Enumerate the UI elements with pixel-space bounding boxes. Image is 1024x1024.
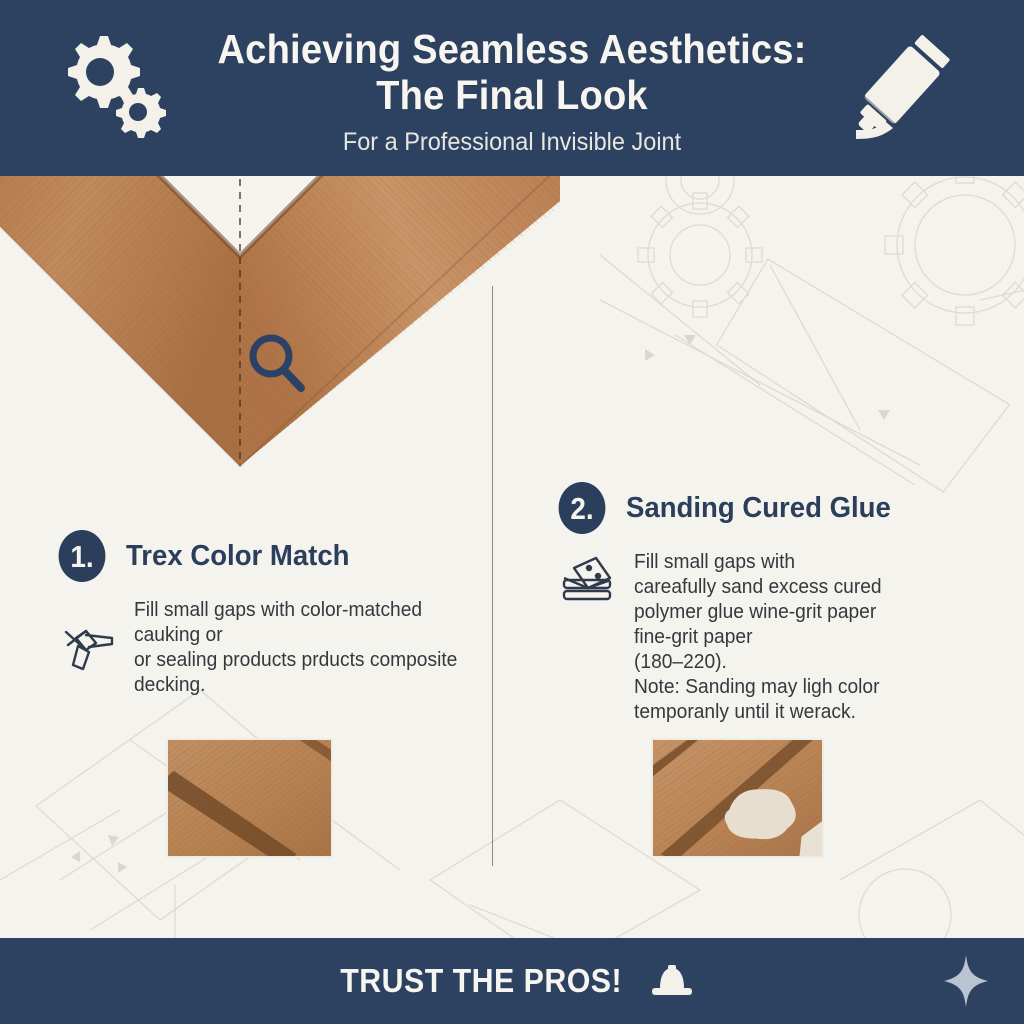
glue-tube-icon <box>828 26 968 151</box>
wood-swatch-seam <box>166 738 333 858</box>
header-banner: Achieving Seamless Aesthetics: The Final… <box>0 0 1024 176</box>
wood-corner-joint-graphic <box>0 176 560 476</box>
wood-swatch-glue-stain <box>651 738 824 858</box>
step-1-body-row: Fill small gaps with color-matched cauki… <box>56 598 476 698</box>
footer-banner: TRUST THE PROS! <box>0 938 1024 1024</box>
step-1-heading: 1. Trex Color Match <box>56 530 476 582</box>
column-divider <box>492 286 493 866</box>
step-1-title: Trex Color Match <box>126 540 350 572</box>
step-2-number-badge: 2. <box>559 482 606 534</box>
hard-hat-icon <box>648 962 696 1000</box>
sparkle-icon <box>944 955 988 1007</box>
step-2-column: 2. Sanding Cured Glue Fill small gaps wi… <box>556 482 986 725</box>
footer-content: TRUST THE PROS! <box>328 962 696 1000</box>
step-2-body-row: Fill small gaps with careafully sand exc… <box>556 550 986 725</box>
step-2-body-text: Fill small gaps with careafully sand exc… <box>634 550 882 725</box>
step-1-body-text: Fill small gaps with color-matched cauki… <box>134 598 462 698</box>
step-2-title: Sanding Cured Glue <box>626 492 891 524</box>
caulk-gun-icon <box>56 598 118 679</box>
magnifier-icon <box>243 330 313 398</box>
footer-text: TRUST THE PROS! <box>340 962 622 1000</box>
sanding-block-icon <box>556 550 618 615</box>
infographic-page: Achieving Seamless Aesthetics: The Final… <box>0 0 1024 1024</box>
step-1-column: 1. Trex Color Match Fill small gaps with… <box>56 530 476 698</box>
step-1-number-badge: 1. <box>59 530 106 582</box>
step-2-heading: 2. Sanding Cured Glue <box>556 482 986 534</box>
